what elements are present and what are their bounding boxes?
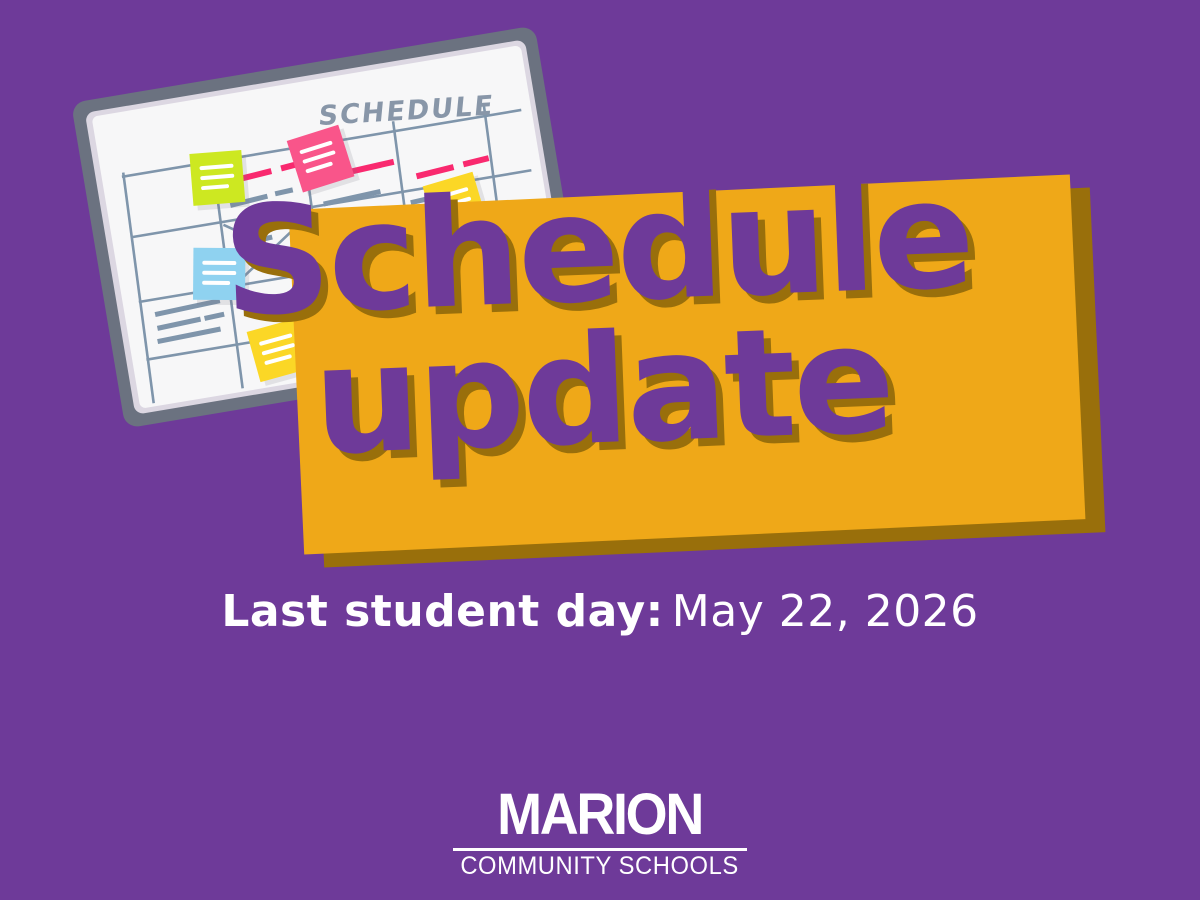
logo-primary-text: MARION	[464, 786, 737, 844]
sticky-note-green	[189, 150, 245, 206]
logo-lockup: MARION COMMUNITY SCHOOLS	[453, 786, 746, 879]
headline-banner	[289, 174, 1086, 554]
subhead: Last student day:May 22, 2026	[0, 586, 1200, 637]
sticky-note-blue	[193, 248, 245, 300]
poster-canvas: SCHEDULE Schedule update	[0, 0, 1200, 900]
subhead-label: Last student day:	[221, 586, 663, 637]
logo-divider	[453, 848, 746, 851]
logo: MARION COMMUNITY SCHOOLS	[0, 786, 1200, 879]
logo-secondary-text: COMMUNITY SCHOOLS	[461, 854, 739, 879]
subhead-value: May 22, 2026	[672, 586, 979, 637]
